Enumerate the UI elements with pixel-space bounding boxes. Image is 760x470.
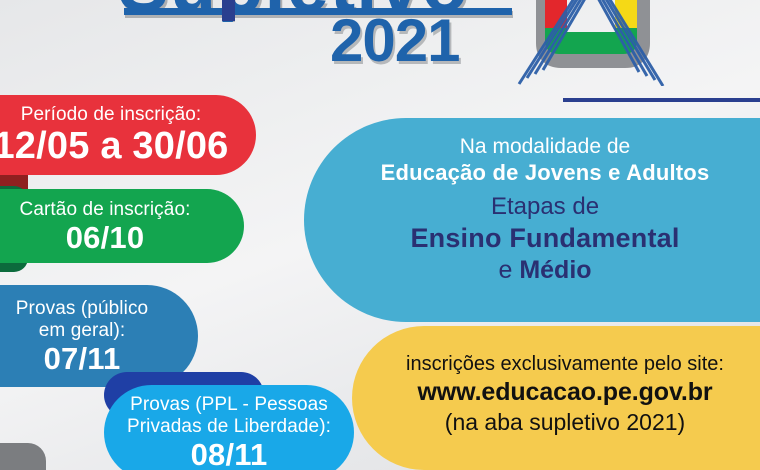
site-panel-note: (na aba supletivo 2021) [392, 408, 738, 437]
schedule-label-line1: Provas (PPL - Pessoas [130, 394, 328, 416]
supletivo-2021-poster: Supletivo 2021 [0, 0, 760, 470]
schedule-label: Período de inscrição: [21, 104, 202, 126]
title-tick-mark [222, 0, 235, 21]
site-panel-intro: inscrições exclusivamente pelo site: [392, 352, 738, 377]
modality-line-4: Ensino Fundamental [348, 222, 742, 255]
poster-year: 2021 [330, 11, 459, 71]
schedule-value: 12/05 a 30/06 [0, 126, 229, 166]
modality-line-5: e Médio [348, 255, 742, 286]
modality-line-5-strong: Médio [519, 256, 591, 284]
modality-line-5-prefix: e [498, 256, 519, 284]
header-divider-rule [563, 98, 760, 102]
pernambuco-government-logo [505, 0, 690, 86]
schedule-value: 06/10 [66, 221, 145, 254]
modality-panel: Na modalidade de Educação de Jovens e Ad… [304, 118, 760, 322]
schedule-pill-provas-ppl: Provas (PPL - Pessoas Privadas de Liberd… [104, 385, 354, 470]
modality-line-2: Educação de Jovens e Adultos [348, 159, 742, 186]
site-panel-url[interactable]: www.educacao.pe.gov.br [392, 377, 738, 408]
schedule-pill-cartao-inscricao: Cartão de inscrição: 06/10 [0, 189, 244, 263]
schedule-value: 08/11 [191, 438, 268, 470]
modality-line-3: Etapas de [348, 192, 742, 222]
decorative-gray-corner [0, 443, 46, 470]
modality-line-1: Na modalidade de [348, 134, 742, 159]
schedule-value: 07/11 [44, 342, 121, 375]
schedule-pill-periodo-inscricao: Período de inscrição: 12/05 a 30/06 [0, 95, 256, 175]
site-panel: inscrições exclusivamente pelo site: www… [352, 326, 760, 470]
schedule-label: Cartão de inscrição: [20, 199, 191, 221]
schedule-label-line1: Provas (público [16, 298, 148, 320]
schedule-label-line2: Privadas de Liberdade): [127, 416, 331, 438]
schedule-label-line2: em geral): [39, 320, 126, 342]
